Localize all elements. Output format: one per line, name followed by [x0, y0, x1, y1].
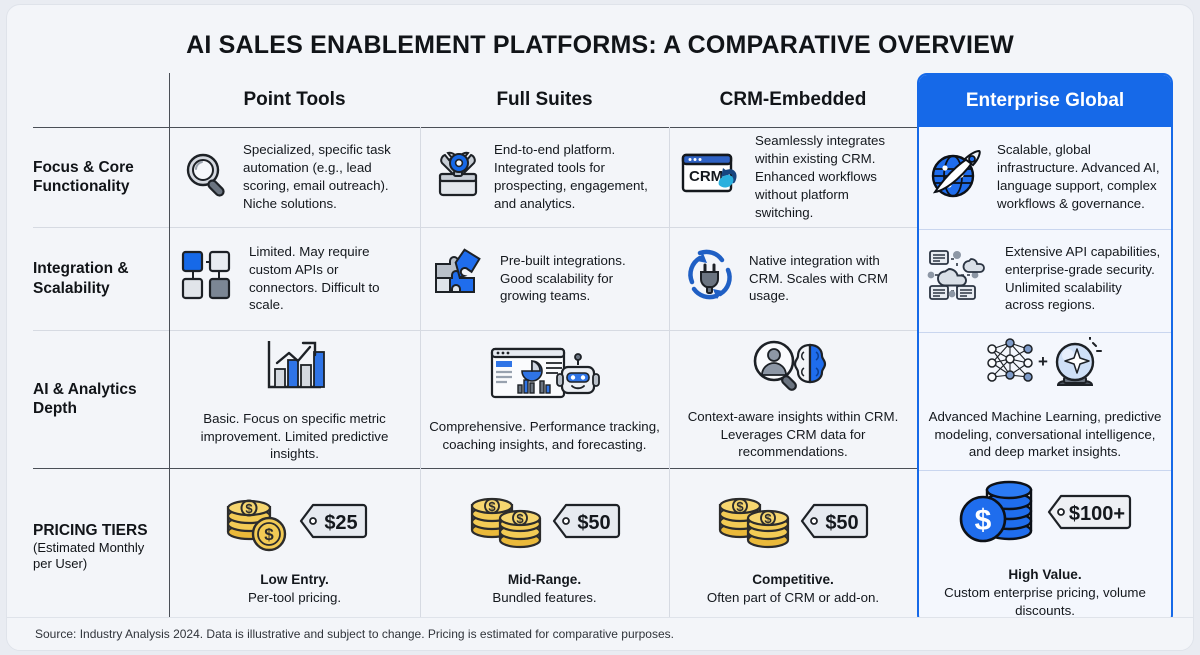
cell-pricing-full-suites: $ $: [420, 468, 669, 625]
source-note: Source: Industry Analysis 2024. Data is …: [7, 627, 674, 641]
coin-stack-icon: $ $: [221, 486, 295, 561]
price-row: $ $100+: [957, 473, 1133, 556]
cell-ai-crm-embedded: Context-aware insights within CRM. Lever…: [669, 330, 917, 468]
footer: Source: Industry Analysis 2024. Data is …: [7, 617, 1193, 650]
price-caption: Low Entry. Per-tool pricing.: [248, 571, 341, 607]
svg-text:$: $: [736, 499, 744, 514]
cell-focus-enterprise-global: Scalable, global infrastructure. Advance…: [917, 127, 1173, 227]
node-network-icon: [179, 246, 241, 311]
price-tag-icon: $50: [800, 501, 870, 546]
price-caption: Mid-Range. Bundled features.: [492, 571, 596, 607]
infographic-card: AI SALES ENABLEMENT PLATFORMS: A COMPARA…: [6, 4, 1194, 651]
cell-pricing-crm-embedded: $ $: [669, 468, 917, 625]
page-title: AI SALES ENABLEMENT PLATFORMS: A COMPARA…: [7, 31, 1193, 60]
cell-text: Scalable, global infrastructure. Advance…: [997, 141, 1163, 212]
globe-rocket-icon: [927, 147, 989, 208]
cell-text: Specialized, specific task automation (e…: [243, 141, 410, 212]
puzzle-icon: [430, 246, 492, 311]
neural-net-crystal-ball-icon: +: [980, 337, 1110, 400]
coin-stack-blue-icon: $: [957, 473, 1043, 556]
svg-text:$: $: [516, 511, 524, 526]
cell-text: Extensive API capabilities, enterprise-g…: [1005, 243, 1163, 314]
cell-text: Comprehensive. Performance tracking, coa…: [428, 418, 661, 454]
row-label-focus: Focus & Core Functionality: [33, 127, 169, 227]
svg-text:CRM: CRM: [689, 168, 723, 185]
cell-focus-point-tools: Specialized, specific task automation (e…: [169, 127, 420, 227]
price-value: $50: [825, 512, 858, 534]
price-tag-icon: $25: [299, 501, 369, 546]
cell-focus-full-suites: End-to-end platform. Integrated tools fo…: [420, 127, 669, 227]
cell-pricing-enterprise-global: $ $100+ High Value. Custom enterprise pr…: [917, 468, 1173, 625]
cell-integration-point-tools: Limited. May require custom APIs or conn…: [169, 227, 420, 330]
price-value: $25: [324, 512, 357, 534]
cell-integration-crm-embedded: Native integration with CRM. Scales with…: [669, 227, 917, 330]
price-value: $100+: [1069, 503, 1125, 525]
cell-pricing-point-tools: $ $ $25 Low Entry. Per-tool pricin: [169, 468, 420, 625]
cell-ai-point-tools: Basic. Focus on specific metric improvem…: [169, 330, 420, 468]
cell-ai-enterprise-global: + Advanced Machine Learning, predictive …: [917, 330, 1173, 468]
cell-text: Advanced Machine Learning, predictive mo…: [925, 408, 1165, 461]
cell-text: End-to-end platform. Integrated tools fo…: [494, 141, 659, 212]
cell-text: Seamlessly integrates within existing CR…: [755, 132, 907, 221]
crm-window-icon: CRM: [679, 147, 747, 208]
column-header-full-suites: Full Suites: [420, 73, 669, 127]
price-caption: High Value. Custom enterprise pricing, v…: [925, 566, 1165, 620]
comparison-table: Point Tools Full Suites CRM-Embedded Ent…: [33, 73, 1173, 625]
bar-chart-trend-icon: [259, 335, 331, 402]
magnifier-icon: [179, 147, 235, 208]
coin-stack-icon: $ $: [468, 486, 548, 561]
cell-text: Context-aware insights within CRM. Lever…: [677, 408, 909, 461]
column-header-crm-embedded: CRM-Embedded: [669, 73, 917, 127]
cell-text: Basic. Focus on specific metric improvem…: [177, 410, 412, 463]
price-row: $ $: [716, 486, 870, 561]
svg-text:$: $: [245, 501, 253, 516]
cell-text: Pre-built integrations. Good scalability…: [500, 252, 659, 305]
price-value: $50: [577, 512, 610, 534]
svg-text:$: $: [764, 511, 772, 526]
cell-ai-full-suites: Comprehensive. Performance tracking, coa…: [420, 330, 669, 468]
cell-integration-enterprise-global: Extensive API capabilities, enterprise-g…: [917, 227, 1173, 330]
dashboard-robot-icon: [490, 345, 600, 410]
row-label-ai-analytics: AI & Analytics Depth: [33, 330, 169, 468]
cell-focus-crm-embedded: CRM Seamlessly integrates within existin…: [669, 127, 917, 227]
column-header-point-tools: Point Tools: [169, 73, 420, 127]
svg-text:$: $: [264, 525, 274, 544]
svg-text:$: $: [488, 499, 496, 514]
svg-text:+: +: [1038, 352, 1048, 371]
cloud-servers-icon: [927, 245, 997, 312]
persona-brain-icon: [748, 337, 838, 400]
column-header-enterprise-global: Enterprise Global: [919, 75, 1171, 127]
price-tag-icon: $50: [552, 501, 622, 546]
row-label-integration: Integration & Scalability: [33, 227, 169, 330]
coin-stack-icon: $ $: [716, 486, 796, 561]
price-row: $ $ $25: [221, 486, 369, 561]
price-row: $ $: [468, 486, 622, 561]
plug-cycle-icon: [679, 246, 741, 311]
svg-text:$: $: [975, 504, 992, 537]
row-label-pricing: PRICING TIERS (Estimated Monthly per Use…: [33, 468, 169, 625]
cell-text: Native integration with CRM. Scales with…: [749, 252, 907, 305]
price-caption: Competitive. Often part of CRM or add-on…: [707, 571, 879, 607]
price-tag-icon: $100+: [1047, 492, 1133, 537]
cell-text: Limited. May require custom APIs or conn…: [249, 243, 410, 314]
cell-integration-full-suites: Pre-built integrations. Good scalability…: [420, 227, 669, 330]
toolbox-gear-icon: [430, 147, 486, 208]
